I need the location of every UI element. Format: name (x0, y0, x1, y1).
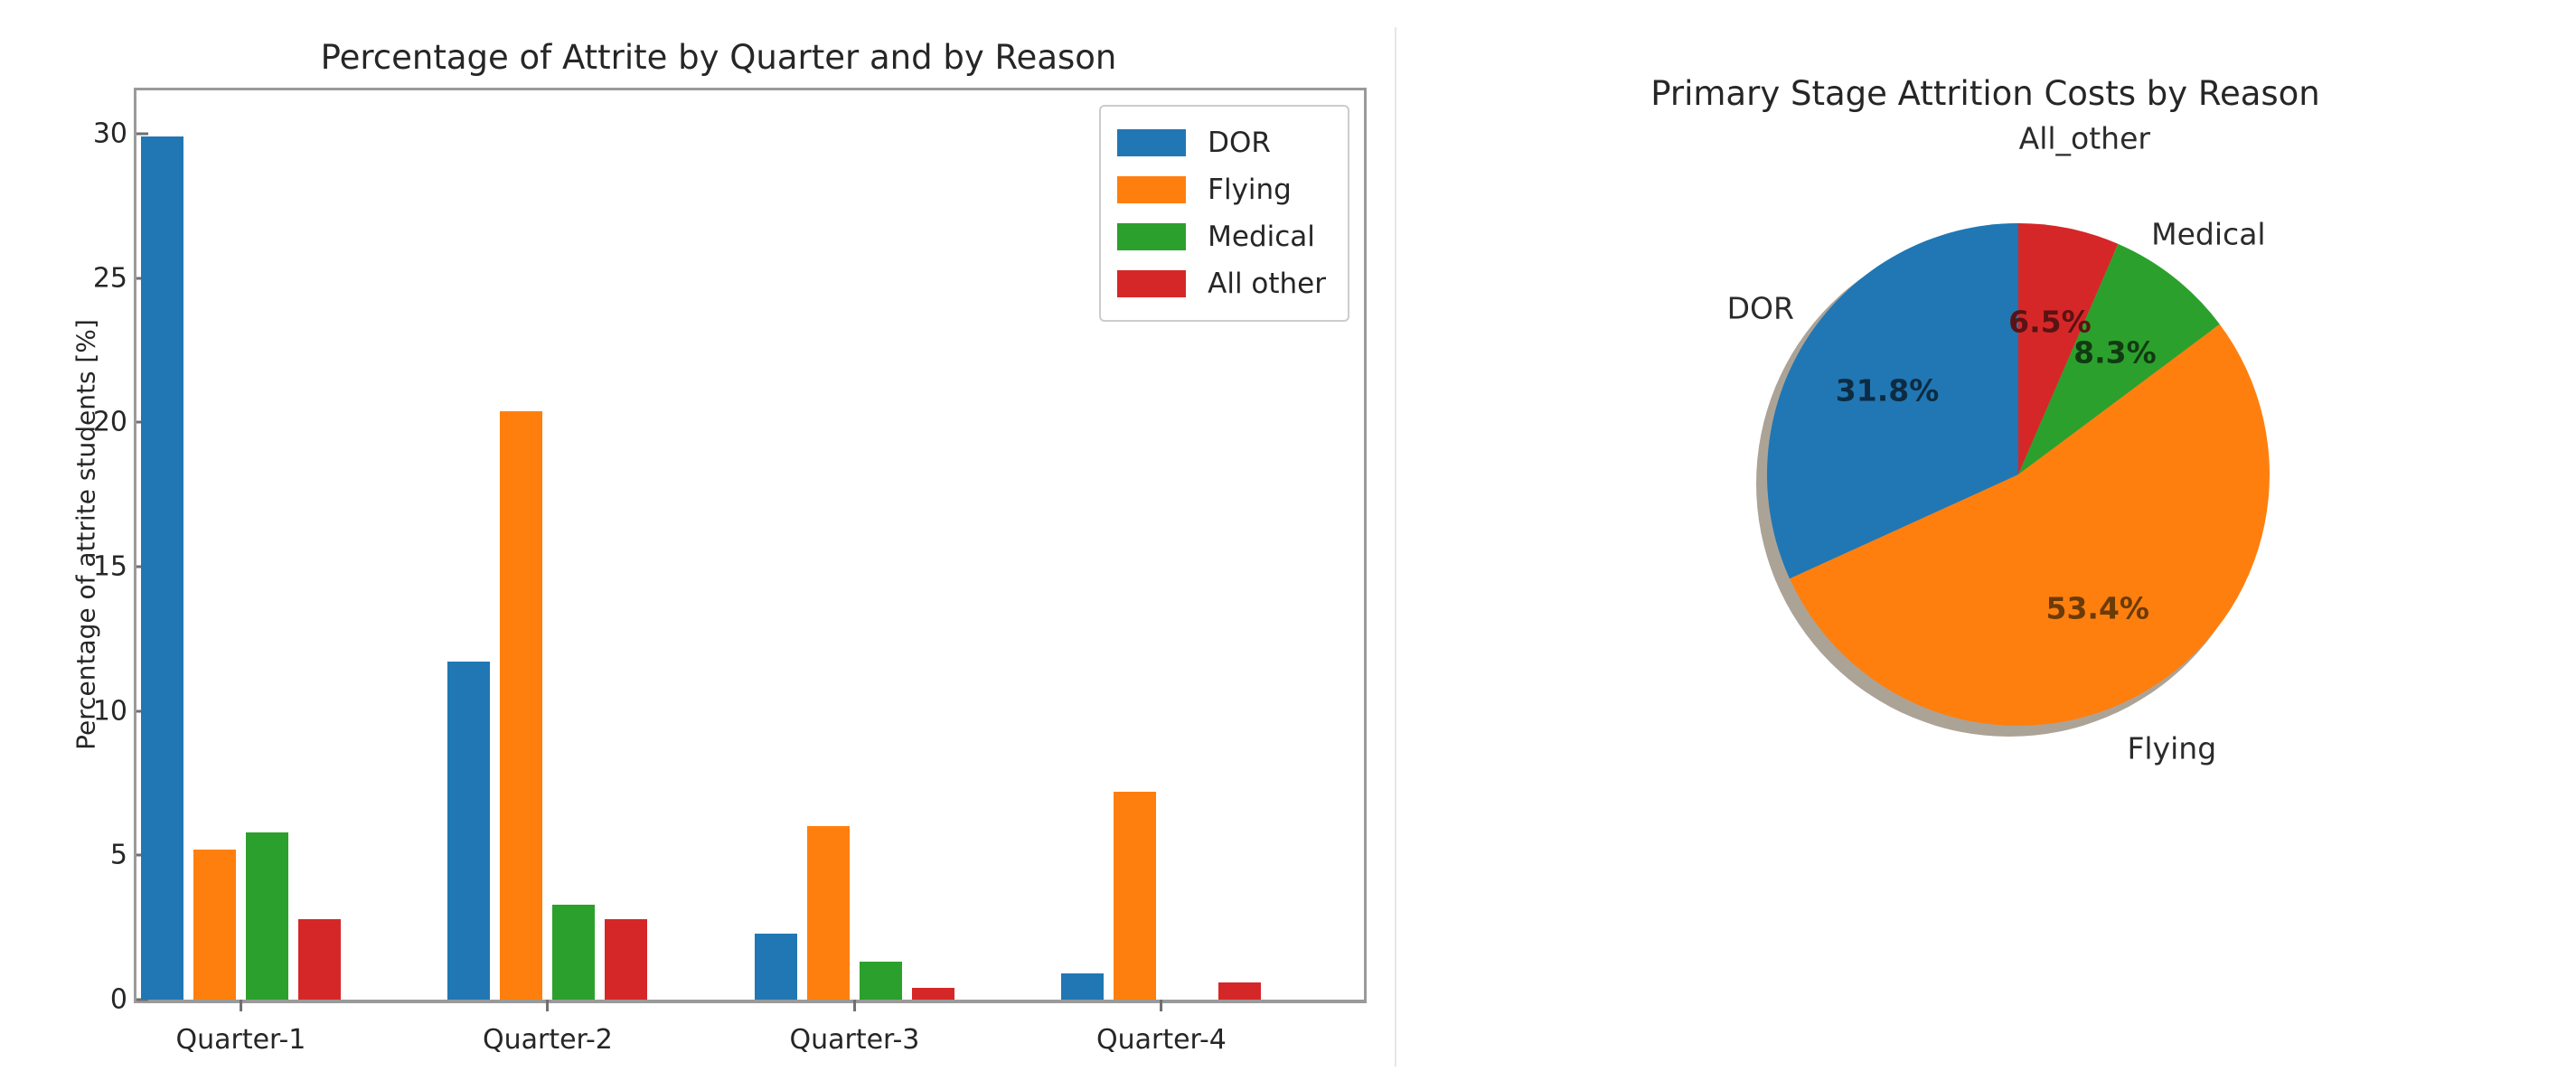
x-axis-tick: Quarter-1 (175, 1000, 306, 1056)
pie-chart-graphic (1765, 221, 2271, 728)
legend-item-label: All other (1208, 268, 1326, 300)
bar-chart-title: Percentage of Attrite by Quarter and by … (127, 38, 1311, 77)
x-axis-tick-mark (853, 1000, 856, 1011)
legend-swatch-icon (1117, 129, 1186, 156)
legend-item-medical[interactable]: Medical (1117, 213, 1326, 260)
x-axis-tick-mark (240, 1000, 242, 1011)
pie-percent-flying: 53.4% (2045, 591, 2149, 626)
y-axis-tick: 20 (93, 407, 136, 438)
legend-item-label: Medical (1208, 221, 1315, 253)
bar-all-other (1218, 982, 1261, 1000)
pie-slices (1765, 221, 2271, 728)
pie-label-dor: DOR (1727, 291, 1794, 326)
pie-chart-title: Primary Stage Attrition Costs by Reason (1395, 74, 2576, 113)
bar-all-other (298, 919, 341, 1000)
y-axis-tick-label: 20 (93, 407, 136, 438)
y-axis-tick-label: 0 (110, 984, 136, 1016)
bar-chart-plot-area: 051015202530 Quarter-1Quarter-2Quarter-3… (134, 88, 1367, 1003)
bar-dor (141, 136, 183, 1000)
pie-percent-medical: 8.3% (2073, 334, 2157, 370)
y-axis-tick: 10 (93, 695, 136, 727)
bar-medical (552, 905, 595, 1000)
bar-all-other (912, 988, 954, 1000)
pie-percent-dor: 31.8% (1836, 372, 1940, 408)
x-axis-tick: Quarter-2 (483, 1000, 613, 1056)
bar-dor (1061, 973, 1104, 1000)
bar-all-other (605, 919, 647, 1000)
legend-swatch-icon (1117, 176, 1186, 203)
bar-chart-legend: DORFlyingMedicalAll other (1099, 105, 1349, 322)
legend-item-dor[interactable]: DOR (1117, 119, 1326, 166)
y-axis-tick: 30 (93, 117, 136, 149)
y-axis-tick: 0 (110, 984, 136, 1016)
x-axis-tick-mark (546, 1000, 549, 1011)
y-axis-tick-label: 15 (93, 550, 136, 582)
pie-label-medical: Medical (2151, 216, 2265, 251)
figure-canvas: Percentage of Attrite by Quarter and by … (0, 0, 2576, 1090)
x-axis-tick-label: Quarter-2 (483, 1024, 613, 1056)
y-axis-tick-label: 10 (93, 695, 136, 727)
legend-item-flying[interactable]: Flying (1117, 166, 1326, 213)
legend-swatch-icon (1117, 270, 1186, 297)
x-axis-tick-label: Quarter-3 (789, 1024, 919, 1056)
y-axis-tick: 15 (93, 550, 136, 582)
y-axis-tick-mark (136, 132, 148, 135)
bar-chart-y-axis-label: Percentage of attrite students [%] (71, 137, 101, 933)
y-axis-tick-label: 5 (110, 840, 136, 871)
x-axis-tick-label: Quarter-1 (175, 1024, 306, 1056)
x-axis-tick-label: Quarter-4 (1096, 1024, 1227, 1056)
legend-item-label: DOR (1208, 127, 1271, 159)
bar-flying (1114, 792, 1156, 1000)
bar-flying (807, 826, 850, 1000)
y-axis-tick-label: 25 (93, 262, 136, 294)
legend-item-label: Flying (1208, 174, 1292, 206)
y-axis-tick: 5 (110, 840, 136, 871)
bar-chart-panel: Percentage of Attrite by Quarter and by … (0, 0, 1395, 1090)
x-axis-tick: Quarter-3 (789, 1000, 919, 1056)
bar-dor (755, 934, 797, 1000)
pie-label-all_other: All_other (2019, 121, 2150, 156)
y-axis-tick: 25 (93, 262, 136, 294)
legend-item-all-other[interactable]: All other (1117, 260, 1326, 307)
bar-dor (447, 662, 490, 1000)
x-axis-tick-mark (1160, 1000, 1162, 1011)
bar-flying (500, 411, 542, 1001)
y-axis-tick-label: 30 (93, 117, 136, 149)
pie-label-flying: Flying (2127, 731, 2216, 766)
x-axis-tick: Quarter-4 (1096, 1000, 1227, 1056)
bar-medical (860, 962, 902, 1000)
pie-chart-panel: Primary Stage Attrition Costs by Reason … (1395, 0, 2576, 1090)
legend-swatch-icon (1117, 223, 1186, 250)
bar-medical (246, 832, 288, 1000)
bar-flying (193, 850, 236, 1000)
